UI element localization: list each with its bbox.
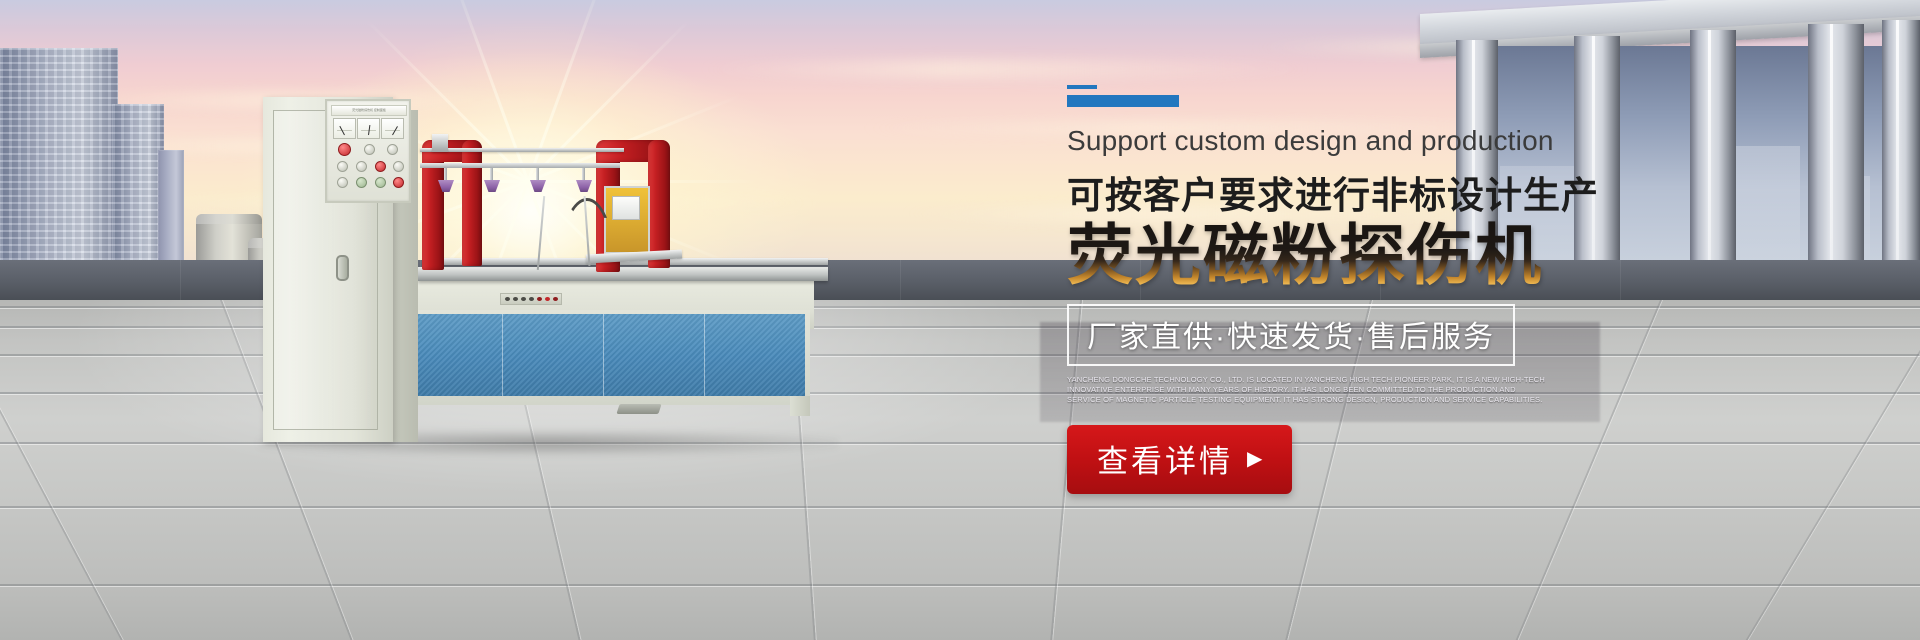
yoke-column — [648, 140, 670, 268]
stop-button[interactable] — [393, 177, 404, 188]
base-panel — [705, 314, 805, 396]
selector-knob[interactable] — [364, 144, 375, 155]
selector-knob[interactable] — [387, 144, 398, 155]
view-details-label: 查看详情 — [1097, 436, 1233, 481]
push-button[interactable] — [337, 177, 348, 188]
service-tagline: 厂家直供·快速发货·售后服务 — [1067, 304, 1515, 366]
spray-nozzle — [484, 180, 500, 192]
accent-bar-thick — [1067, 95, 1179, 107]
pillar — [1690, 30, 1736, 288]
ammeter-gauge — [333, 118, 356, 139]
control-panel[interactable]: 荧光磁粉探伤机 控制面板 — [325, 99, 411, 203]
machine-bed — [418, 267, 828, 281]
clamp-plate — [612, 196, 640, 220]
base-panel — [404, 314, 503, 396]
banner-copy: Support custom design and production 可按客… — [1067, 80, 1627, 494]
machine-foot — [790, 396, 810, 416]
product-title: 荧光磁粉探伤机 — [1067, 221, 1627, 290]
push-button[interactable] — [356, 161, 367, 172]
manifold-valve — [432, 134, 448, 152]
voltmeter-gauge — [357, 118, 380, 139]
start-button[interactable] — [356, 177, 367, 188]
spray-nozzle — [530, 180, 546, 192]
accent-bar-thin — [1067, 85, 1097, 89]
chinese-subheading: 可按客户要求进行非标设计生产 — [1067, 165, 1627, 219]
base-panel — [503, 314, 604, 396]
view-details-button[interactable]: 查看详情 ▶ — [1067, 425, 1292, 494]
indicator-vent — [500, 293, 562, 305]
manifold-pipe — [420, 148, 624, 152]
yoke-column — [462, 140, 482, 266]
push-button-red[interactable] — [375, 161, 386, 172]
promo-banner: 荧光磁粉探伤机 控制面板 Support custom design and p… — [0, 0, 1920, 640]
timer-gauge — [381, 118, 404, 139]
spray-manifold — [420, 163, 620, 168]
product-machine: 荧光磁粉探伤机 控制面板 — [0, 0, 1000, 640]
play-arrow-icon: ▶ — [1247, 449, 1262, 469]
pillar — [1808, 24, 1864, 288]
push-button[interactable] — [337, 161, 348, 172]
spray-nozzle — [576, 180, 592, 192]
base-panel — [604, 314, 705, 396]
push-button[interactable] — [393, 161, 404, 172]
english-heading: Support custom design and production — [1067, 125, 1627, 157]
foot-pedal[interactable] — [616, 404, 661, 414]
start-button[interactable] — [375, 177, 386, 188]
panel-title-strip: 荧光磁粉探伤机 控制面板 — [331, 105, 407, 116]
company-description: YANCHENG DONGCHE TECHNOLOGY CO., LTD. IS… — [1067, 375, 1549, 405]
emergency-stop-knob[interactable] — [338, 143, 351, 156]
pillar — [1882, 20, 1920, 288]
cabinet-handle[interactable] — [336, 255, 349, 281]
